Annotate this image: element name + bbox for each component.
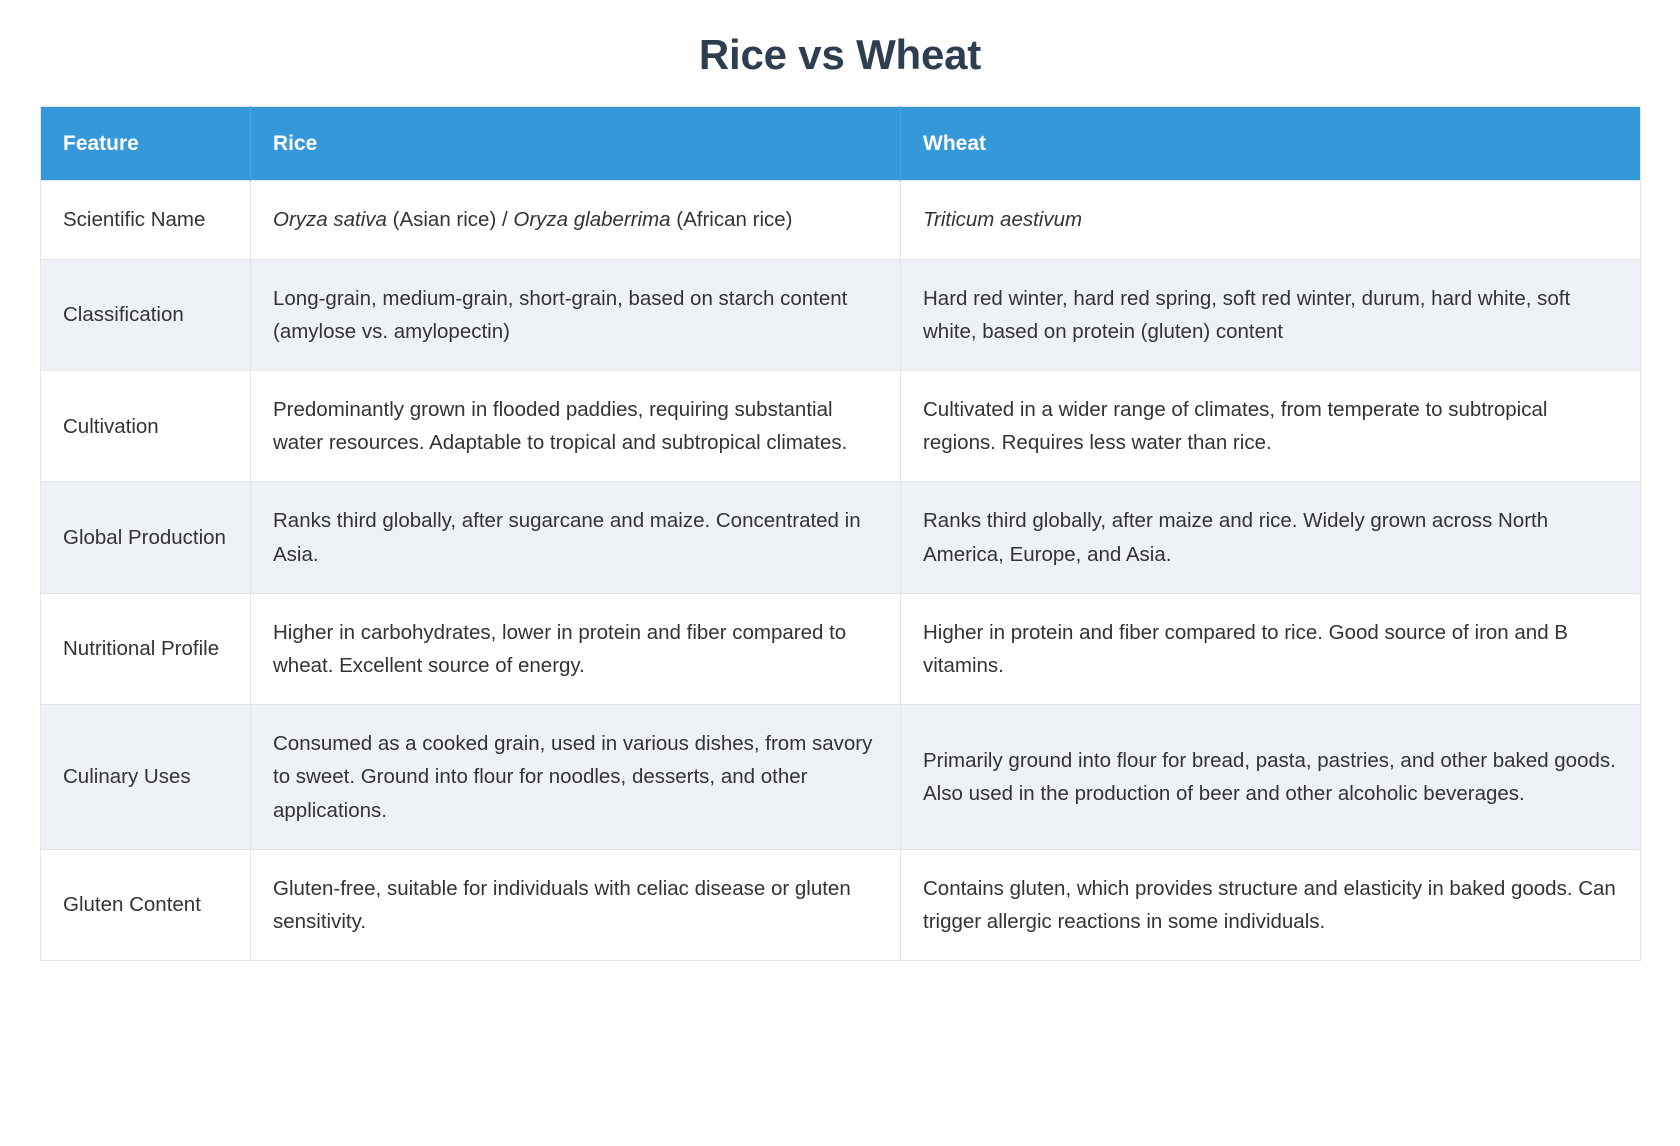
table-row: Global ProductionRanks third globally, a… [41, 482, 1641, 593]
comparison-table: Feature Rice Wheat Scientific NameOryza … [40, 106, 1641, 961]
cell-feature: Nutritional Profile [41, 593, 251, 704]
cell-wheat: Primarily ground into flour for bread, p… [901, 705, 1641, 850]
cell-rice: Gluten-free, suitable for individuals wi… [251, 849, 901, 960]
cell-feature: Culinary Uses [41, 705, 251, 850]
cell-text-segment: (African rice) [671, 208, 793, 231]
cell-rice: Long-grain, medium-grain, short-grain, b… [251, 259, 901, 370]
table-header-row: Feature Rice Wheat [41, 107, 1641, 181]
table-body: Scientific NameOryza sativa (Asian rice)… [41, 181, 1641, 961]
cell-rice: Oryza sativa (Asian rice) / Oryza glaber… [251, 181, 901, 259]
cell-feature: Classification [41, 259, 251, 370]
page-title: Rice vs Wheat [0, 0, 1680, 106]
table-row: CultivationPredominantly grown in floode… [41, 371, 1641, 482]
cell-feature: Scientific Name [41, 181, 251, 259]
cell-feature: Gluten Content [41, 849, 251, 960]
cell-wheat: Higher in protein and fiber compared to … [901, 593, 1641, 704]
table-row: Culinary UsesConsumed as a cooked grain,… [41, 705, 1641, 850]
column-header-rice: Rice [251, 107, 901, 181]
cell-feature: Cultivation [41, 371, 251, 482]
cell-wheat: Cultivated in a wider range of climates,… [901, 371, 1641, 482]
cell-rice: Consumed as a cooked grain, used in vari… [251, 705, 901, 850]
table-row: ClassificationLong-grain, medium-grain, … [41, 259, 1641, 370]
cell-wheat: Hard red winter, hard red spring, soft r… [901, 259, 1641, 370]
column-header-wheat: Wheat [901, 107, 1641, 181]
cell-rice: Higher in carbohydrates, lower in protei… [251, 593, 901, 704]
table-row: Nutritional ProfileHigher in carbohydrat… [41, 593, 1641, 704]
scientific-name-italic: Oryza sativa [273, 208, 387, 231]
cell-wheat: Contains gluten, which provides structur… [901, 849, 1641, 960]
comparison-page: Rice vs Wheat Feature Rice Wheat Scienti… [0, 0, 1680, 1146]
cell-rice: Ranks third globally, after sugarcane an… [251, 482, 901, 593]
cell-rice: Predominantly grown in flooded paddies, … [251, 371, 901, 482]
column-header-feature: Feature [41, 107, 251, 181]
cell-wheat: Ranks third globally, after maize and ri… [901, 482, 1641, 593]
scientific-name-italic: Triticum aestivum [923, 208, 1082, 231]
cell-feature: Global Production [41, 482, 251, 593]
cell-text-segment: (Asian rice) / [387, 208, 513, 231]
table-row: Scientific NameOryza sativa (Asian rice)… [41, 181, 1641, 259]
table-row: Gluten ContentGluten-free, suitable for … [41, 849, 1641, 960]
cell-wheat: Triticum aestivum [901, 181, 1641, 259]
table-header: Feature Rice Wheat [41, 107, 1641, 181]
scientific-name-italic: Oryza glaberrima [513, 208, 670, 231]
comparison-table-container: Feature Rice Wheat Scientific NameOryza … [40, 106, 1640, 961]
